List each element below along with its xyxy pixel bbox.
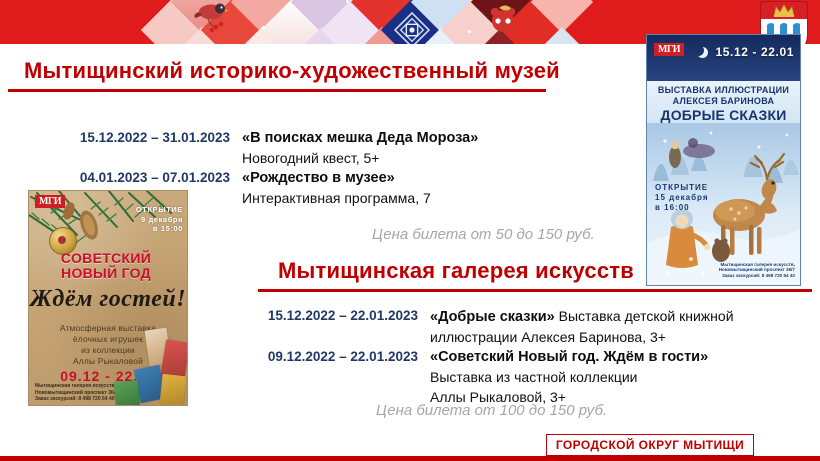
poster-dobrye-skazki[interactable]: МГИ 15.12 - 22.01 ВЫСТАВКА ИЛЛЮСТРАЦИИ А… [646,34,801,286]
bauble-center [58,236,66,244]
event-body: «Добрые сказки» Выставка детской книжной… [430,306,782,347]
event-description: Интерактивная программа, 7 [242,188,560,208]
gallery-ticket-price: Цена билета от 100 до 150 руб. [376,402,607,419]
event-title: «Рождество в музее» [242,168,560,188]
crescent-moon-icon [693,45,704,56]
mgi-logo-badge: МГИ [654,43,684,56]
list-item: 15.12.2022 – 22.01.2023 «Добрые сказки» … [222,306,782,347]
event-title: «Добрые сказки» Выставка детской книжной [430,306,782,327]
vintage-card-decor [114,380,140,406]
bullfinch-bird-icon [192,0,232,34]
event-description: иллюстрации Алексея Баринова, 3+ [430,327,782,347]
event-date: 15.12.2022 – 31.01.2023 [40,128,230,148]
event-date: 15.12.2022 – 22.01.2023 [222,306,418,326]
status-badge-label: ГОРОДСКОЙ ОКРУГ МЫТИЩИ [556,438,744,452]
gallery-title-rule [258,289,812,292]
bear-motif-icon [486,4,522,36]
poster-right-line3: ДОБРЫЕ СКАЗКИ [647,107,800,123]
list-item: 15.12.2022 – 31.01.2023 «В поисках мешка… [40,128,560,168]
poster-left-heading-line2: НОВЫЙ ГОД [61,265,151,281]
event-body: «Советский Новый год. Ждём в гости» Выст… [430,347,782,407]
status-badge-city-district: ГОРОДСКОЙ ОКРУГ МЫТИЩИ [546,434,754,456]
list-item: 09.12.2022 – 22.01.2023 «Советский Новый… [222,347,782,407]
event-body: «Рождество в музее» Интерактивная програ… [242,168,560,208]
poster-left-opening: ОТКРЫТИЕ 9 декабря в 15:00 [111,205,183,234]
event-body: «В поисках мешка Деда Мороза» Новогодний… [242,128,560,168]
poster-left-script-title: Ждём гостей! [29,286,187,313]
slide-root: Мытищинский историко-художественный музе… [0,0,820,461]
museum-ticket-price: Цена билета от 50 до 150 руб. [372,226,595,243]
page-title-museum: Мытищинский историко-художественный музе… [24,58,560,84]
vintage-card-decor [159,374,186,406]
museum-title-rule [8,89,546,92]
poster-right-dates: 15.12 - 22.01 [715,45,794,59]
poster-right-footer: Мытищинская галерея искусств, Новомытищи… [719,262,795,279]
poster-left-heading: СОВЕТСКИЙ НОВЫЙ ГОД [29,251,183,281]
header-left-fill [0,0,170,44]
small-animal-illustration [712,238,730,262]
mgi-logo-badge: МГИ [35,195,65,208]
event-description: Выставка из частной коллекции Аллы Рыкал… [430,367,782,407]
festive-patchwork-pattern [150,0,570,44]
event-description: Новогодний квест, 5+ [242,148,560,168]
event-title-text: «Добрые сказки» [430,309,555,325]
event-title: «В поисках мешка Деда Мороза» [242,128,560,148]
event-title: «Советский Новый год. Ждём в гости» [430,347,782,367]
poster-right-opening: ОТКРЫТИЕ 15 декабря в 16:00 [655,183,709,213]
poster-left-heading-line1: СОВЕТСКИЙ [61,250,151,266]
poster-soviet-new-year[interactable]: МГИ ОТКРЫТИЕ 9 декабря в 15:00 СОВЕТСКИЙ… [28,190,188,406]
poster-right-line1: ВЫСТАВКА ИЛЛЮСТРАЦИИ [647,85,800,96]
page-title-gallery: Мытищинская галерея искусств [278,258,634,284]
event-date: 09.12.2022 – 22.01.2023 [222,347,418,367]
poster-right-line2: АЛЕКСЕЯ БАРИНОВА [647,96,800,107]
event-title-inline-desc: Выставка детской книжной [555,308,734,324]
footer-rule [0,456,820,461]
event-date: 04.01.2023 – 07.01.2023 [40,168,230,188]
gallery-event-list: 15.12.2022 – 22.01.2023 «Добрые сказки» … [222,306,782,407]
